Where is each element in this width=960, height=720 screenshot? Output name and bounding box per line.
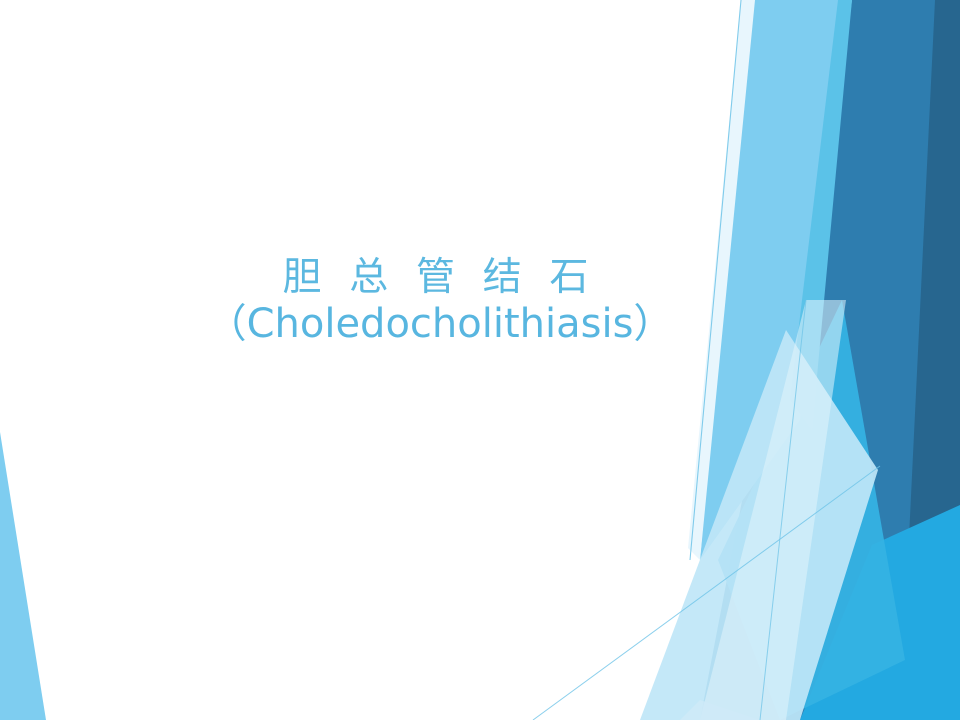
hairline-shallow [533,466,880,720]
facet-deep-blue-base [735,0,960,720]
facet-bright-cyan-lower [800,505,960,720]
page-title-chinese: 胆 总 管 结 石 [0,255,880,301]
hairline-steep-2 [760,300,806,720]
decoration-left-wedge [0,0,960,720]
facet-deepest-column [905,0,960,620]
page-title-english: （Choledocholithiasis） [0,301,880,347]
title-block: 胆 总 管 结 石 （Choledocholithiasis） [0,255,880,347]
facet-cyan-sliver [790,0,852,430]
slide-canvas: 胆 总 管 结 石 （Choledocholithiasis） [0,0,960,720]
facet-pale-band [700,300,846,720]
facet-pale-overlay [640,330,878,720]
left-wedge-shape [0,432,46,720]
facet-dark-blue-slab [700,0,940,720]
facet-bottom-left-soft [680,700,760,720]
decoration-right-banner [0,0,960,720]
facet-cyan-mid [718,300,905,720]
